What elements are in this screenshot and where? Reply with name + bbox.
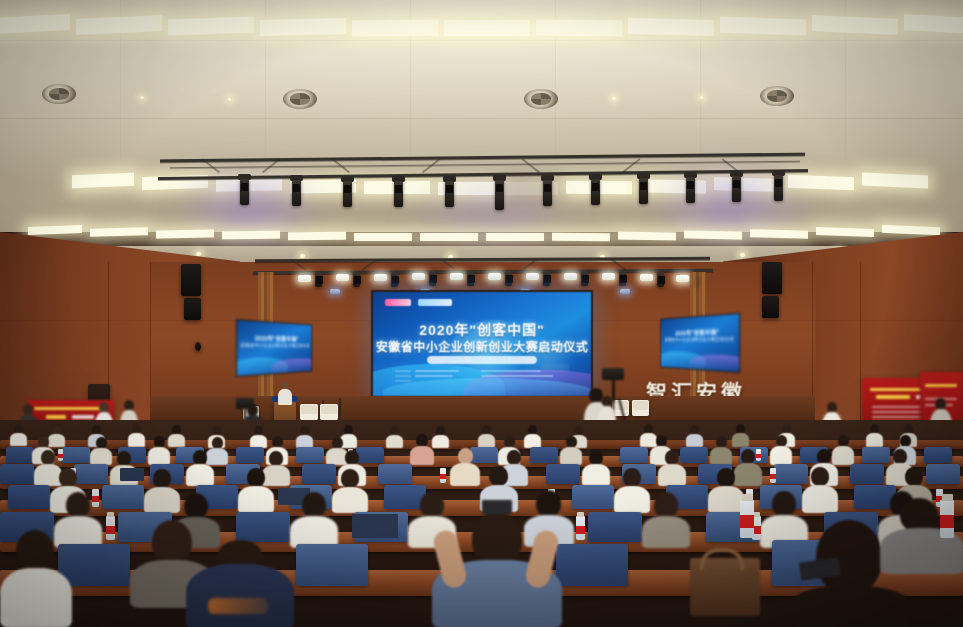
par-light bbox=[412, 273, 425, 280]
ceiling-light-strip bbox=[288, 232, 346, 240]
seat[interactable] bbox=[530, 447, 558, 463]
person-body bbox=[238, 486, 274, 513]
water-bottle bbox=[740, 500, 754, 538]
ceiling-downlight bbox=[140, 96, 144, 99]
wall-speaker bbox=[762, 296, 779, 318]
moving-head-light bbox=[686, 177, 695, 203]
moving-head-light bbox=[353, 272, 360, 287]
laptop bbox=[120, 468, 144, 481]
person-head bbox=[184, 493, 208, 519]
moving-head-light bbox=[639, 178, 648, 204]
audience-person-photographing bbox=[432, 500, 562, 627]
shirt-graphic bbox=[208, 598, 268, 614]
person-head bbox=[507, 450, 521, 465]
ceiling-light-strip bbox=[352, 20, 438, 37]
bottle-cap bbox=[107, 512, 114, 517]
ceiling-light-strip bbox=[28, 225, 82, 235]
audience-person bbox=[238, 468, 274, 510]
ceiling-light-strip bbox=[552, 233, 610, 241]
standee-headline bbox=[925, 384, 957, 387]
seat[interactable] bbox=[0, 464, 34, 484]
person-body bbox=[186, 564, 294, 627]
moving-head-light bbox=[505, 271, 512, 286]
person-head bbox=[345, 450, 359, 465]
screen-title-line2: 安徽省中小企业创新创业大赛启动仪式 bbox=[373, 338, 591, 355]
person-body bbox=[186, 464, 214, 486]
audience-person bbox=[732, 424, 749, 445]
seat[interactable] bbox=[62, 447, 90, 463]
person-head bbox=[816, 520, 882, 594]
audience-person bbox=[410, 434, 434, 463]
ceiling-light-strip bbox=[628, 18, 714, 36]
person-head bbox=[458, 448, 473, 464]
par-light bbox=[298, 275, 311, 282]
person-head bbox=[193, 450, 207, 465]
video-camera-right bbox=[602, 368, 624, 380]
ceiling-light-strip bbox=[684, 230, 742, 239]
person-body bbox=[10, 433, 27, 446]
par-light bbox=[640, 274, 653, 281]
person-head bbox=[589, 450, 603, 465]
wall-speaker bbox=[184, 298, 201, 320]
stage-chair bbox=[300, 404, 318, 420]
person-body bbox=[790, 586, 910, 627]
ceiling bbox=[0, 0, 963, 232]
standee-subline bbox=[46, 415, 66, 419]
seat[interactable] bbox=[8, 485, 50, 509]
moving-head-light bbox=[657, 272, 664, 287]
person-body bbox=[0, 568, 72, 627]
person-head bbox=[811, 467, 829, 486]
audience-person bbox=[582, 450, 610, 484]
air-vent bbox=[283, 89, 317, 109]
person-body bbox=[90, 448, 112, 465]
stage-chair bbox=[320, 404, 338, 420]
person-body bbox=[168, 434, 185, 447]
seat[interactable] bbox=[236, 447, 264, 463]
ceiling-light-strip bbox=[354, 233, 412, 241]
audience-person bbox=[290, 492, 338, 544]
moving-head-light bbox=[343, 181, 352, 207]
seat[interactable] bbox=[546, 464, 580, 484]
audience-person bbox=[296, 426, 313, 446]
screen-subtitle: 主办单位：安徽省经济和信息化厅 bbox=[373, 356, 591, 364]
water-bottle bbox=[770, 468, 776, 483]
audience-person bbox=[708, 468, 744, 510]
par-light bbox=[564, 273, 577, 280]
audience-person-foreground bbox=[186, 540, 294, 627]
screen-logo-row bbox=[385, 299, 452, 306]
ceiling-light-strip bbox=[750, 229, 808, 239]
person-head bbox=[905, 467, 923, 486]
water-bottle bbox=[440, 468, 446, 483]
moving-head-light bbox=[240, 179, 249, 205]
person-head bbox=[247, 468, 265, 487]
speaker-body bbox=[278, 389, 292, 405]
audience-person bbox=[770, 435, 792, 463]
ceiling-downlight bbox=[228, 98, 231, 101]
moving-head-light bbox=[445, 181, 454, 207]
screen-logo-chuangke bbox=[385, 299, 411, 306]
laptop bbox=[352, 514, 398, 538]
person-body bbox=[524, 434, 541, 448]
screen-title-line1: 2020年"创客中国" bbox=[373, 320, 591, 340]
seat[interactable] bbox=[924, 447, 952, 463]
par-light-blue bbox=[620, 289, 630, 294]
person-body bbox=[386, 435, 403, 448]
person-head bbox=[623, 468, 641, 487]
ceiling-light-strip bbox=[486, 233, 544, 241]
person-body bbox=[710, 447, 732, 465]
person-body bbox=[560, 447, 582, 465]
wall-speaker bbox=[181, 264, 201, 296]
person-head bbox=[472, 512, 522, 566]
seat[interactable] bbox=[296, 447, 324, 463]
ceiling-light-strip bbox=[90, 227, 148, 237]
par-light bbox=[374, 274, 387, 281]
audience-person bbox=[386, 426, 403, 446]
light-wash bbox=[150, 175, 350, 255]
bottle-cap bbox=[942, 494, 953, 501]
person-head bbox=[66, 492, 90, 518]
audience-person bbox=[560, 436, 582, 463]
ceiling-downlight bbox=[612, 97, 616, 100]
conference-hall-photo: 2020年"创客中国" 安徽省中小企业创新创业大赛启动仪式 主办单位：安徽省经济… bbox=[0, 0, 963, 627]
person-body bbox=[148, 447, 170, 465]
person-head bbox=[665, 450, 679, 465]
ceiling-seam bbox=[0, 40, 963, 41]
moving-head-light bbox=[619, 271, 626, 286]
par-light bbox=[602, 273, 615, 280]
ceiling-light-strip bbox=[156, 229, 214, 238]
moving-head-light bbox=[774, 175, 783, 201]
ceiling-light-strip bbox=[72, 173, 134, 189]
person-head bbox=[302, 492, 326, 518]
screen-logo-anhui bbox=[418, 299, 452, 306]
person-head bbox=[717, 468, 735, 487]
person-body bbox=[770, 446, 792, 465]
audience-person bbox=[128, 424, 145, 445]
wall-seam bbox=[860, 262, 861, 432]
side-screen-left-title2: 安徽省中小企业创新创业大赛启动仪式 bbox=[237, 342, 311, 349]
ceiling-light-strip bbox=[618, 232, 676, 241]
seat[interactable] bbox=[302, 464, 336, 484]
water-bottle bbox=[106, 516, 115, 540]
water-bottle bbox=[576, 516, 585, 540]
person-head bbox=[41, 450, 55, 465]
smartphone[interactable] bbox=[482, 500, 512, 514]
light-wash bbox=[370, 185, 610, 255]
audience-person bbox=[524, 425, 541, 446]
person-body bbox=[708, 486, 744, 513]
person-head bbox=[117, 451, 131, 466]
person-body bbox=[450, 463, 480, 486]
air-vent bbox=[760, 86, 794, 106]
stage-pole bbox=[339, 398, 341, 420]
person-body bbox=[478, 434, 495, 448]
bottle-cap bbox=[742, 494, 753, 501]
side-screen-right: 2020年"创客中国" 安徽省中小企业创新创业大赛启动仪式 bbox=[660, 313, 740, 373]
audience-person bbox=[710, 436, 732, 463]
seat[interactable] bbox=[556, 544, 628, 586]
side-screen-left: 2020年"创客中国" 安徽省中小企业创新创业大赛启动仪式 bbox=[236, 319, 312, 377]
ceiling-light-strip bbox=[816, 227, 874, 237]
person-body bbox=[732, 433, 749, 447]
ceiling-light-strip bbox=[536, 20, 622, 37]
standee-subline bbox=[876, 395, 910, 399]
moving-head-light bbox=[543, 180, 552, 206]
ceiling-seam bbox=[0, 118, 963, 119]
main-led-screen: 2020年"创客中国" 安徽省中小企业创新创业大赛启动仪式 主办单位：安徽省经济… bbox=[371, 290, 593, 398]
bottle-cap bbox=[577, 512, 584, 517]
person-body bbox=[582, 464, 610, 486]
ceiling-light-strip bbox=[420, 233, 478, 241]
handbag-strap bbox=[700, 548, 744, 570]
person-body bbox=[686, 434, 703, 447]
ceiling-downlight bbox=[700, 96, 703, 99]
stage-speaker bbox=[277, 382, 293, 404]
screen-detail-block bbox=[395, 380, 411, 382]
person-head bbox=[153, 469, 171, 488]
moving-head-light bbox=[495, 180, 504, 210]
air-vent bbox=[42, 84, 76, 104]
audience-person bbox=[658, 450, 686, 484]
moving-head-light bbox=[391, 272, 398, 287]
par-light bbox=[488, 273, 501, 280]
audience-person-foreground bbox=[0, 530, 72, 627]
person-head bbox=[817, 449, 831, 464]
standee-subline-alt bbox=[72, 415, 94, 419]
person-head bbox=[741, 449, 755, 464]
audience-person bbox=[250, 426, 267, 446]
par-light bbox=[450, 273, 463, 280]
moving-head-light bbox=[591, 179, 600, 205]
seat[interactable] bbox=[236, 512, 290, 542]
person-body bbox=[642, 516, 690, 548]
person-head bbox=[893, 449, 907, 464]
person-body bbox=[658, 464, 686, 486]
person-body bbox=[432, 435, 449, 448]
screen-detail-block bbox=[395, 375, 411, 377]
moving-head-light bbox=[543, 271, 550, 286]
moving-head-light bbox=[315, 272, 322, 287]
water-bottle bbox=[940, 500, 954, 538]
person-head bbox=[654, 492, 678, 518]
ceiling-downlight bbox=[300, 254, 305, 258]
moving-head-light bbox=[581, 271, 588, 286]
screen-detail-block bbox=[541, 364, 569, 372]
person-head bbox=[16, 530, 54, 572]
screen-detail-line bbox=[481, 375, 553, 377]
person-head bbox=[341, 469, 359, 488]
audience-person bbox=[450, 448, 480, 484]
seat[interactable] bbox=[572, 485, 614, 509]
seat[interactable] bbox=[378, 464, 412, 484]
person-head bbox=[900, 498, 938, 532]
person-head bbox=[772, 491, 796, 517]
seat[interactable] bbox=[6, 447, 34, 463]
audience-person bbox=[10, 424, 27, 444]
ceiling-downlight bbox=[740, 253, 745, 257]
stage-chair bbox=[632, 400, 649, 416]
person-head bbox=[489, 466, 508, 486]
person-body bbox=[128, 433, 145, 447]
audience-person bbox=[686, 425, 703, 445]
moving-head-light bbox=[732, 176, 741, 202]
wall-speaker bbox=[762, 262, 782, 294]
screen-detail-line bbox=[415, 375, 453, 377]
par-light bbox=[526, 273, 539, 280]
ceiling-light-strip bbox=[168, 16, 254, 35]
person-body bbox=[410, 446, 434, 465]
ceiling-light-strip bbox=[222, 231, 280, 240]
par-light-blue bbox=[330, 289, 340, 294]
seat[interactable] bbox=[296, 544, 368, 586]
seat[interactable] bbox=[620, 447, 648, 463]
audience-person bbox=[642, 492, 690, 544]
ceiling-light-strip bbox=[882, 225, 940, 235]
audience-person bbox=[186, 450, 214, 484]
audience-person bbox=[866, 424, 883, 445]
par-light bbox=[336, 274, 349, 281]
audience-person bbox=[168, 425, 185, 445]
seat[interactable] bbox=[102, 485, 144, 509]
moving-head-light bbox=[394, 181, 403, 207]
ceiling-light-strip bbox=[260, 18, 346, 36]
audience-person bbox=[148, 436, 170, 463]
moving-head-light bbox=[292, 180, 301, 206]
person-head bbox=[269, 451, 283, 466]
bottle-cap bbox=[753, 512, 760, 517]
moving-head-light bbox=[467, 271, 474, 286]
seat[interactable] bbox=[588, 512, 642, 542]
side-screen-right-title2: 安徽省中小企业创新创业大赛启动仪式 bbox=[661, 336, 739, 343]
ceiling-light-strip bbox=[444, 20, 530, 36]
screen-detail-line bbox=[415, 370, 459, 372]
person-head bbox=[59, 468, 77, 487]
audience-person bbox=[90, 437, 112, 463]
screen-detail-line bbox=[481, 370, 541, 372]
wall-speaker-small bbox=[195, 342, 201, 351]
seat[interactable] bbox=[850, 464, 884, 484]
air-vent bbox=[524, 89, 558, 109]
audience-person bbox=[478, 425, 495, 446]
audience-person bbox=[432, 426, 449, 446]
screen-detail-block bbox=[395, 370, 411, 372]
ceiling-light-strip bbox=[720, 16, 806, 35]
moving-head-light bbox=[429, 271, 436, 286]
par-light bbox=[676, 275, 689, 282]
person-body bbox=[866, 433, 883, 447]
